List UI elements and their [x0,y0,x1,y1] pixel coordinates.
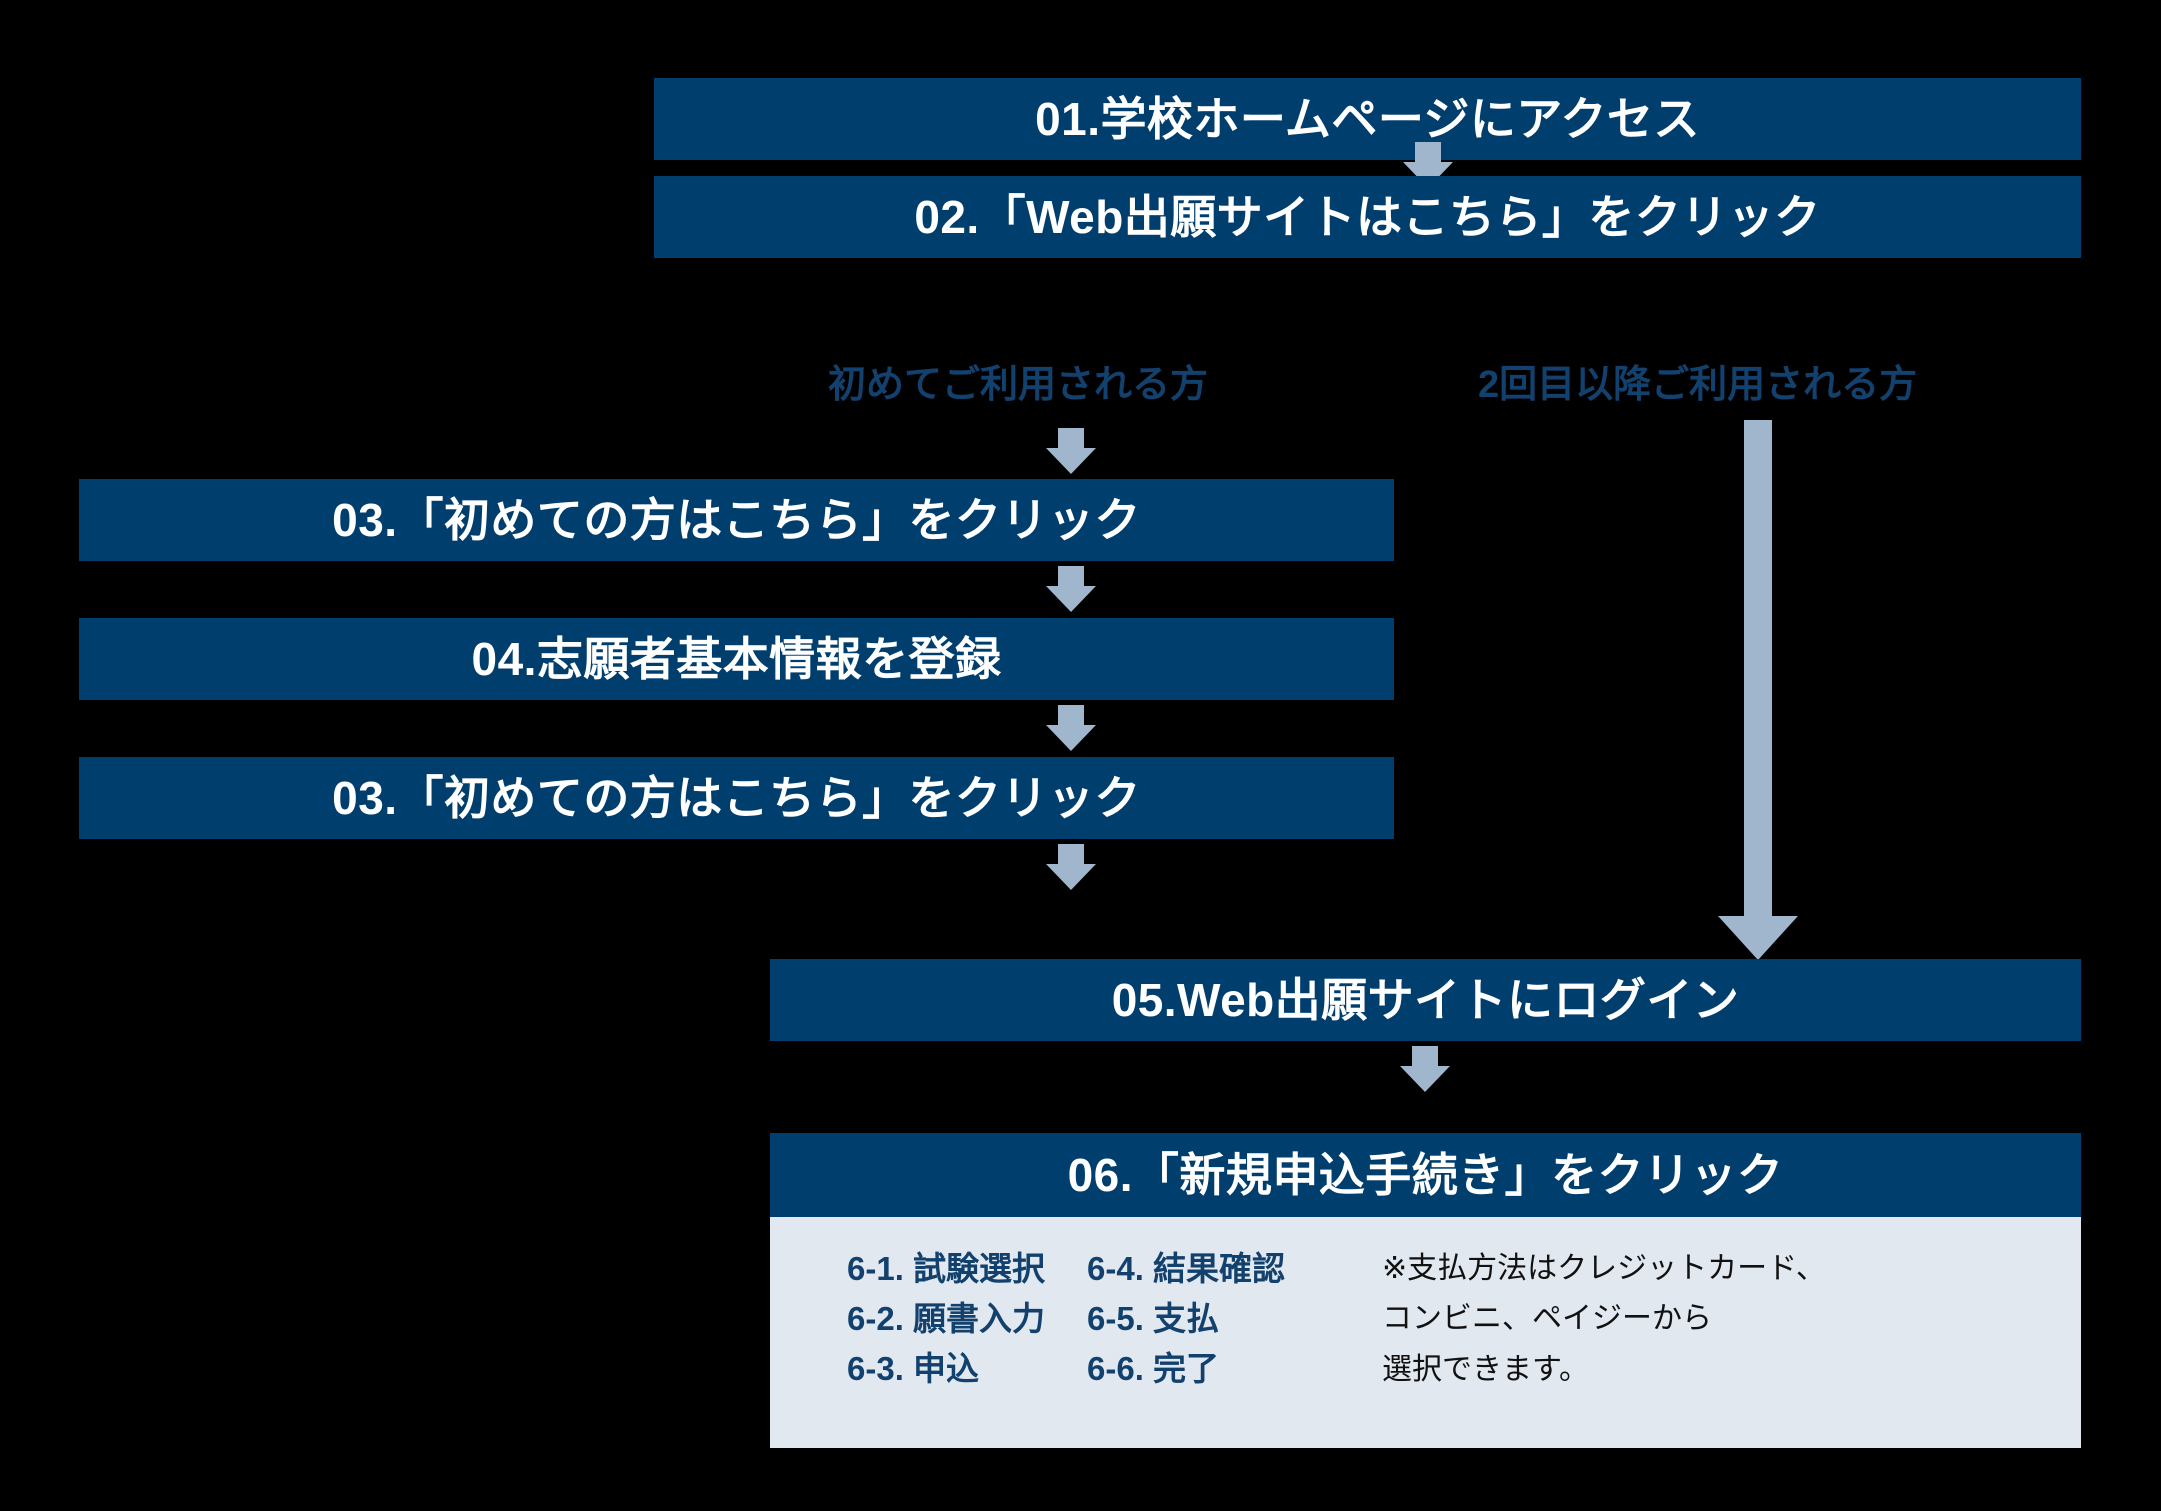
payment-note-line-1: ※支払方法はクレジットカード、 [1382,1244,1826,1294]
substep-panel: 6-1. 試験選択 6-2. 願書入力 6-3. 申込 6-4. 結果確認 6-… [770,1217,2081,1448]
step-box-01: 01.学校ホームページにアクセス [654,78,2081,160]
flowchart-canvas: 01.学校ホームページにアクセス 02.「Web出願サイトはこちら」をクリック … [0,0,2161,1511]
arrow-down-icon [1046,428,1096,474]
substep-item-6-3: 6-3. 申込 [847,1344,1067,1394]
step-box-03-first: 03.「初めての方はこちら」をクリック [79,479,1394,561]
long-arrow-down-icon [1718,420,1798,960]
step-box-04-label: 04.志願者基本情報を登録 [472,636,1002,682]
substep-item-6-1: 6-1. 試験選択 [847,1244,1067,1294]
arrow-down-icon [1400,1046,1450,1092]
arrow-down-icon [1046,844,1096,890]
arrow-head [1400,1066,1450,1092]
branch-label-first-time: 初めてご利用される方 [828,366,1208,404]
step-box-06: 06.「新規申込手続き」をクリック [770,1133,2081,1217]
arrow-head [1046,586,1096,612]
payment-note-line-2: コンビニ、ペイジーから [1382,1294,1826,1344]
substep-column-right: 6-4. 結果確認 6-5. 支払 6-6. 完了 [1087,1244,1322,1394]
step-box-04: 04.志願者基本情報を登録 [79,618,1394,700]
step-box-03-second-label: 03.「初めての方はこちら」をクリック [332,775,1141,821]
arrow-shaft [1415,142,1441,164]
arrow-head [1046,864,1096,890]
substep-item-6-4: 6-4. 結果確認 [1087,1244,1322,1294]
step-box-03-second: 03.「初めての方はこちら」をクリック [79,757,1394,839]
arrow-shaft [1058,428,1084,450]
substep-item-6-5: 6-5. 支払 [1087,1294,1322,1344]
step-box-05-label: 05.Web出願サイトにログイン [1112,977,1740,1023]
arrow-shaft [1058,566,1084,588]
arrow-shaft [1058,705,1084,727]
substep-item-6-6: 6-6. 完了 [1087,1344,1322,1394]
arrow-head [1718,916,1798,960]
step-box-06-label: 06.「新規申込手続き」をクリック [1068,1152,1784,1198]
arrow-down-icon [1046,566,1096,612]
step-box-01-label: 01.学校ホームページにアクセス [1035,96,1700,142]
payment-method-note: ※支払方法はクレジットカード、 コンビニ、ペイジーから 選択できます。 [1382,1244,1826,1395]
arrow-shaft [1744,420,1772,918]
step-box-02: 02.「Web出願サイトはこちら」をクリック [654,176,2081,258]
arrow-head [1046,725,1096,751]
step-box-02-label: 02.「Web出願サイトはこちら」をクリック [914,194,1820,240]
payment-note-line-3: 選択できます。 [1382,1345,1826,1395]
substep-item-6-2: 6-2. 願書入力 [847,1294,1067,1344]
arrow-head [1046,448,1096,474]
arrow-shaft [1412,1046,1438,1068]
substep-column-left: 6-1. 試験選択 6-2. 願書入力 6-3. 申込 [847,1244,1067,1394]
step-box-05: 05.Web出願サイトにログイン [770,959,2081,1041]
step-box-03-first-label: 03.「初めての方はこちら」をクリック [332,497,1141,543]
arrow-down-icon [1046,705,1096,751]
arrow-shaft [1058,844,1084,866]
branch-label-returning: 2回目以降ご利用される方 [1478,366,1917,404]
